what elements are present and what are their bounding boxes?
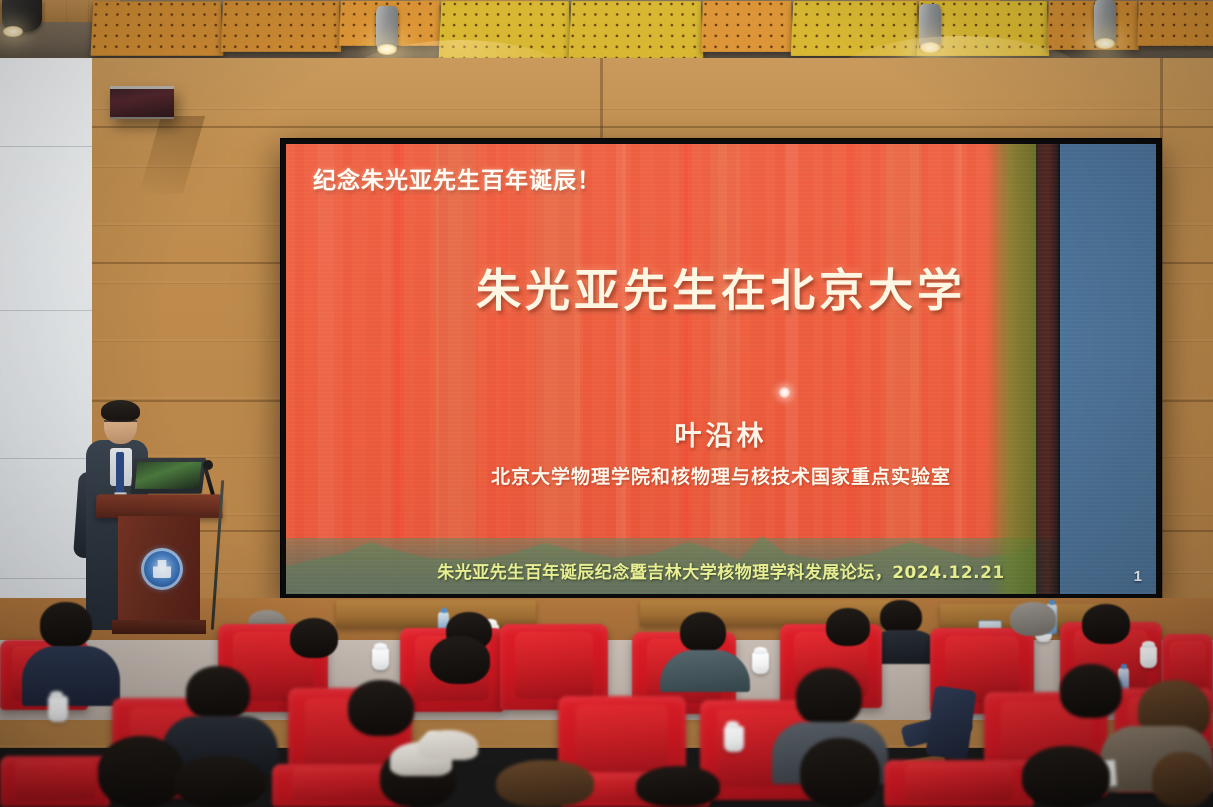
audience-head xyxy=(186,666,250,720)
audience-head xyxy=(430,636,490,684)
presenter-hair xyxy=(101,400,140,422)
ceiling-acoustic-panel xyxy=(439,1,572,58)
teacup xyxy=(724,726,744,752)
audience-head xyxy=(796,668,862,726)
teacup xyxy=(752,652,769,674)
ceiling-spotlight xyxy=(376,6,398,50)
teacup xyxy=(372,648,389,670)
ceiling-acoustic-panel xyxy=(221,1,341,52)
university-seal-emblem xyxy=(141,548,183,590)
audience-head xyxy=(636,766,720,807)
slide-footer-text: 朱光亚先生百年诞辰纪念暨吉林大学核物理学科发展论坛，2024.12.21 xyxy=(286,558,1156,583)
slide-page-number: 1 xyxy=(1134,568,1142,585)
ceiling-spotlight xyxy=(919,4,941,48)
glasses-icon xyxy=(104,420,137,427)
presenter-lanyard xyxy=(116,452,124,496)
led-edge-green-band xyxy=(986,144,1038,594)
audience-head xyxy=(1082,604,1130,644)
ceiling-acoustic-panel xyxy=(569,1,704,58)
podium-laptop xyxy=(130,458,206,494)
ceiling-spotlight xyxy=(2,0,42,32)
ceiling-acoustic-panel xyxy=(1137,1,1213,46)
slide-affiliation: 北京大学物理学院和核物理与核技术国家重点实验室 xyxy=(286,462,1156,489)
podium-base xyxy=(112,620,206,634)
wall-seam xyxy=(92,126,1213,128)
audience-head xyxy=(800,738,880,807)
audience-head xyxy=(98,736,184,807)
led-edge-blue-band xyxy=(1058,144,1156,594)
led-edge-dark-band xyxy=(1036,144,1060,594)
audience-head xyxy=(174,756,266,807)
audience-head xyxy=(1152,752,1213,807)
slide-speaker-name: 叶沿林 xyxy=(286,414,1156,453)
microphone-icon xyxy=(203,460,213,470)
teacup xyxy=(48,696,68,722)
ceiling-acoustic-panel xyxy=(1047,1,1139,50)
audience-head xyxy=(40,602,92,648)
audience-shoulders xyxy=(22,646,120,706)
seat xyxy=(884,760,1034,807)
podium-top xyxy=(95,494,222,518)
led-display[interactable]: 纪念朱光亚先生百年诞辰！ 朱光亚先生在北京大学 叶沿林 北京大学物理学院和核物理… xyxy=(281,139,1161,598)
auditorium-photo: 纪念朱光亚先生百年诞辰！ 朱光亚先生在北京大学 叶沿林 北京大学物理学院和核物理… xyxy=(0,0,1213,807)
slide-bullet-dot xyxy=(779,387,790,398)
ceiling-acoustic-panel xyxy=(791,1,919,56)
slide-title: 朱光亚先生在北京大学 xyxy=(286,254,1156,319)
seat xyxy=(0,756,110,807)
audience-shoulders xyxy=(660,650,750,692)
audience-head xyxy=(1060,664,1122,718)
laptop-screen xyxy=(135,462,202,489)
slide-kicker: 纪念朱光亚先生百年诞辰！ xyxy=(313,161,601,195)
audience-head xyxy=(496,760,594,807)
baseball-cap xyxy=(418,730,478,760)
ceiling-spotlight xyxy=(1094,0,1116,44)
audience-head xyxy=(1010,602,1056,636)
ceiling-acoustic-panel xyxy=(701,1,793,52)
audience-head xyxy=(348,680,414,736)
audience-leg xyxy=(925,685,976,760)
audience-head xyxy=(680,612,726,652)
wall-mounted-speaker xyxy=(110,86,174,119)
audience-head xyxy=(880,600,922,634)
audience-head xyxy=(1022,746,1110,807)
audience-head xyxy=(290,618,338,658)
ceiling-acoustic-panel xyxy=(90,1,223,55)
presentation-slide: 纪念朱光亚先生百年诞辰！ 朱光亚先生在北京大学 叶沿林 北京大学物理学院和核物理… xyxy=(286,144,1156,594)
teacup xyxy=(1140,646,1157,668)
audience-head xyxy=(826,608,870,646)
